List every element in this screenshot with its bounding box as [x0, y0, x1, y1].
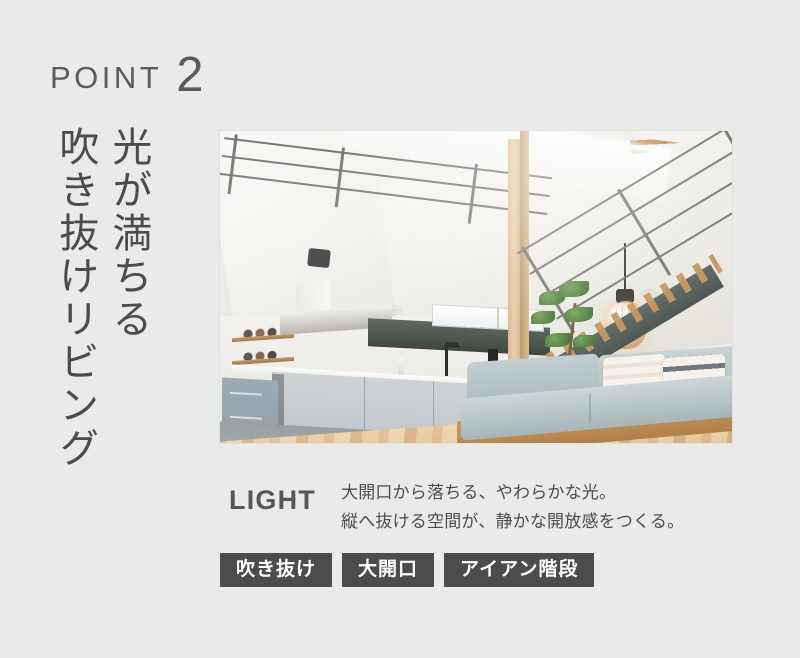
- tag-fukinuke[interactable]: 吹き抜け: [220, 553, 332, 587]
- sofa: [457, 346, 732, 443]
- caption-block: LIGHT 大開口から落ちる、やわらかな光。 縦へ抜ける空間が、静かな開放感をつ…: [229, 478, 684, 536]
- vertical-title: 光が満ちる 吹き抜けリビング: [52, 126, 152, 476]
- caption-text: 大開口から落ちる、やわらかな光。 縦へ抜ける空間が、静かな開放感をつくる。: [341, 478, 684, 536]
- point-number: 2: [176, 51, 203, 100]
- tag-daikaikou[interactable]: 大開口: [342, 553, 434, 587]
- interior-photo: [219, 130, 733, 444]
- soap-bottle: [398, 358, 404, 375]
- point-heading: POINT 2: [50, 48, 204, 97]
- point-label: POINT: [50, 62, 162, 93]
- wall-bracket: [307, 248, 331, 268]
- kitchen-faucet: [445, 346, 448, 376]
- vertical-title-line-1: 光が満ちる: [105, 126, 152, 476]
- caption-label: LIGHT: [229, 478, 341, 518]
- photo-canvas: [220, 131, 732, 443]
- caption-line-1: 大開口から落ちる、やわらかな光。: [341, 478, 684, 507]
- caption-line-2: 縦へ抜ける空間が、静かな開放感をつくる。: [341, 507, 684, 536]
- tag-list: 吹き抜け 大開口 アイアン階段: [220, 553, 594, 587]
- tag-iron-staircase[interactable]: アイアン階段: [444, 553, 594, 587]
- page-root: POINT 2 光が満ちる 吹き抜けリビング: [0, 0, 800, 658]
- vertical-title-line-2: 吹き抜けリビング: [52, 126, 99, 476]
